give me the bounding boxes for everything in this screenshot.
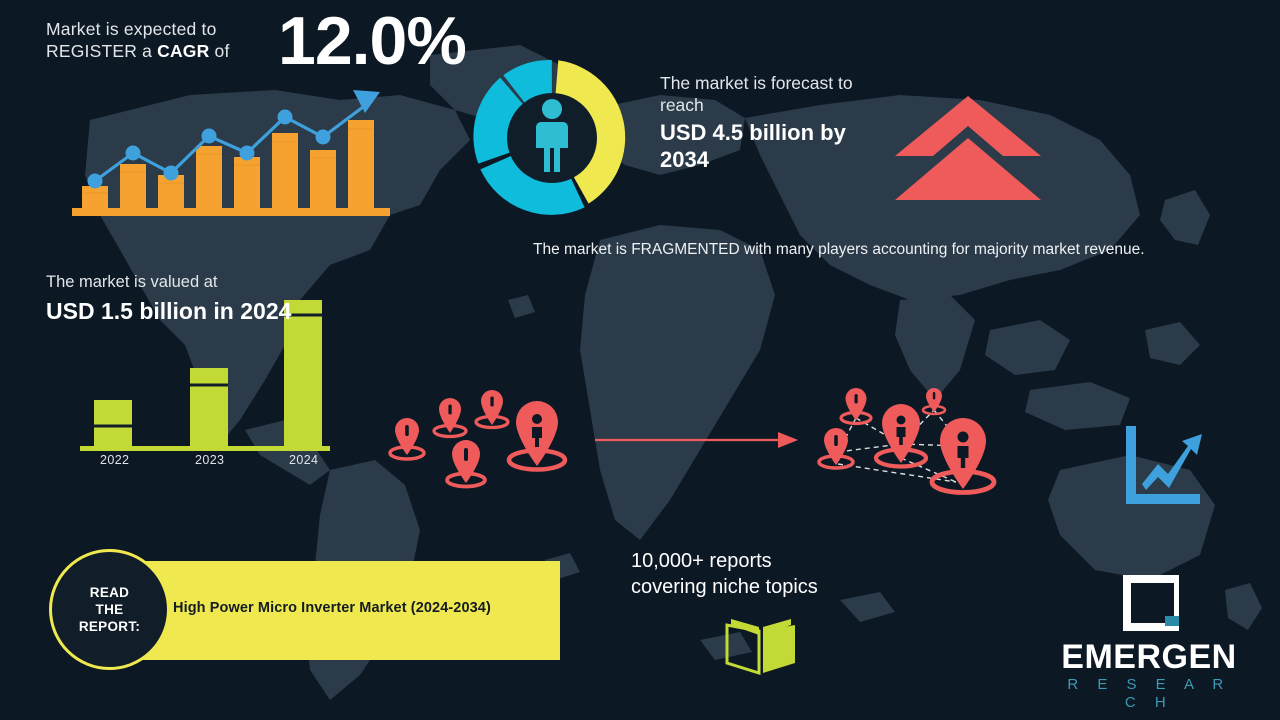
map-pin	[923, 388, 945, 414]
book-svg	[721, 613, 801, 675]
map-pin	[447, 440, 485, 487]
orange-chart-svg	[62, 82, 412, 222]
logo-mark-svg	[1120, 572, 1182, 634]
pins-right-svg	[806, 386, 1016, 504]
infographic-canvas: Market is expected to REGISTER a CAGR of…	[0, 0, 1280, 720]
report-banner[interactable]: High Power Micro Inverter Market (2024-2…	[110, 561, 560, 660]
pins-left-svg	[382, 388, 578, 493]
map-pin	[841, 388, 871, 424]
map-pin	[932, 418, 994, 493]
growth-chart-arrow-icon	[1118, 422, 1208, 512]
forecast-block: The market is forecast to reach USD 4.5 …	[660, 72, 895, 173]
read-the-report-button[interactable]: READ THE REPORT:	[49, 549, 170, 670]
right-arrow-icon	[595, 427, 800, 453]
report-title: High Power Micro Inverter Market (2024-2…	[173, 600, 543, 616]
map-pin	[434, 398, 466, 437]
cagr-caption-line2-pre: REGISTER a	[46, 41, 157, 61]
chevrons-svg	[893, 94, 1043, 202]
green-chart-baseline	[80, 446, 330, 451]
cta-line-3: REPORT:	[79, 619, 140, 634]
market-share-donut-chart	[462, 48, 642, 228]
map-pin	[509, 401, 565, 470]
logo-wordmark: EMERGEN	[1054, 638, 1244, 676]
flow-arrow-svg	[595, 427, 800, 453]
year-label-2023: 2023	[195, 453, 224, 467]
map-pin	[390, 418, 424, 459]
donut-svg	[462, 48, 642, 228]
map-pin	[476, 390, 508, 428]
growth-arrow-line	[1142, 434, 1202, 490]
map-pin-network-right	[806, 386, 1016, 504]
growth-axes	[1126, 426, 1200, 504]
logo-subtitle: R E S E A R C H	[1054, 676, 1244, 712]
cta-line-2: THE	[96, 602, 124, 617]
market-growth-orange-bar-chart	[62, 82, 412, 222]
fragmented-market-note: The market is FRAGMENTED with many playe…	[533, 238, 1233, 262]
map-pin	[876, 404, 926, 467]
cagr-caption-line1: Market is expected to	[46, 19, 217, 39]
reports-line-2: covering niche topics	[631, 576, 818, 598]
valuation-block: The market is valued at USD 1.5 billion …	[46, 272, 326, 326]
forecast-value: USD 4.5 billion by 2034	[660, 119, 895, 173]
map-pin	[819, 428, 853, 468]
forecast-caption: The market is forecast to reach	[660, 72, 895, 116]
reports-count-text: 10,000+ reports covering niche topics	[631, 548, 871, 600]
valuation-caption: The market is valued at	[46, 272, 326, 293]
cagr-caption-line2-post: of	[209, 41, 229, 61]
open-book-icon	[721, 613, 801, 675]
map-pin-cluster-left	[382, 388, 578, 493]
year-label-2024: 2024	[289, 453, 318, 467]
read-the-report-label: READ THE REPORT:	[79, 584, 140, 635]
square-bracket-logo-icon	[1120, 572, 1182, 634]
cta-line-1: READ	[90, 585, 129, 600]
orange-chart-baseline	[72, 208, 390, 216]
cagr-caption: Market is expected to REGISTER a CAGR of	[46, 18, 266, 62]
year-label-2022: 2022	[100, 453, 129, 467]
cagr-caption-bold: CAGR	[157, 41, 209, 61]
valuation-value: USD 1.5 billion in 2024	[46, 297, 326, 326]
double-up-chevron-icon	[893, 94, 1043, 202]
reports-count-block: 10,000+ reports covering niche topics	[631, 548, 871, 600]
cagr-block: Market is expected to REGISTER a CAGR of…	[46, 18, 266, 62]
cagr-value: 12.0%	[278, 6, 466, 76]
reports-line-1: 10,000+ reports	[631, 550, 772, 572]
growth-icon-svg	[1118, 422, 1208, 512]
